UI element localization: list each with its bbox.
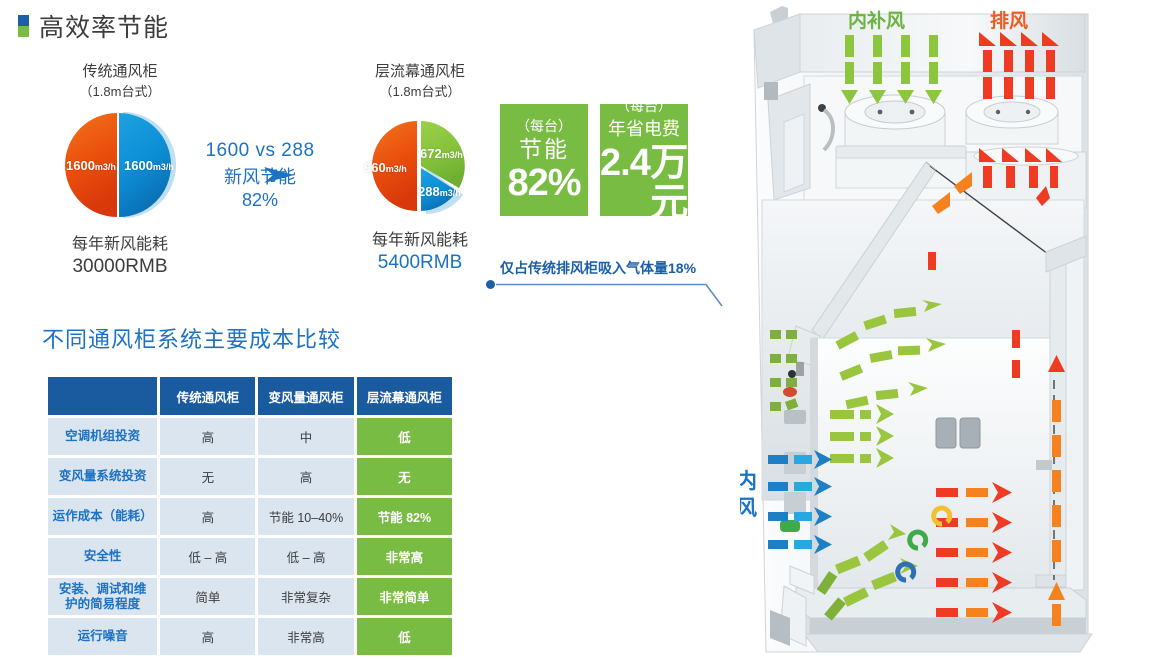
table-cell-highlight: 低: [357, 618, 452, 655]
pie-slice-label: 960m3/h: [364, 160, 407, 175]
pie-caption-traditional: 传统通风柜 （1.8m台式）: [30, 62, 210, 102]
supply-air-horizontal-rows: [830, 404, 894, 468]
badge-top-label: （每台）: [616, 97, 672, 115]
table-cell: 高: [160, 498, 255, 535]
table-row-label: 运作成本（能耗）: [48, 498, 157, 535]
pie-foot-laminar: 每年新风能耗 5400RMB: [330, 230, 510, 274]
pie-subtitle-traditional: （1.8m台式）: [30, 82, 210, 102]
cost-comparison-table: 传统通风柜 变风量通风柜 层流幕通风柜 空调机组投资 高 中 低 变风量系统投资…: [45, 374, 455, 658]
logo-square-top: [18, 15, 29, 26]
exhaust-riser-arrows: [1048, 355, 1065, 626]
table-row: 安装、调试和维护的简易程度 简单 非常复杂 非常简单: [48, 578, 452, 615]
label-exhaust-air: 排风: [990, 6, 1028, 33]
table-header-col-1: 传统通风柜: [160, 377, 255, 415]
pie-slice-label: 288m3/h: [418, 184, 461, 199]
table-cell-highlight: 非常高: [357, 538, 452, 575]
badge-mid-label: 节能: [519, 135, 569, 163]
table-cell: 高: [160, 418, 255, 455]
table-cell: 中: [258, 418, 353, 455]
badge-annual-savings: （每台） 年省电费 2.4 万元: [600, 104, 688, 216]
table-cell: 节能 10–40%: [258, 498, 353, 535]
table-title: 不同通风柜系统主要成本比较: [42, 322, 341, 354]
table-cell: 非常高: [258, 618, 353, 655]
page-title: 高效率节能: [39, 8, 169, 44]
supply-air-left-inlets: [770, 330, 798, 411]
badge-energy-saving: （每台） 节能 82 %: [500, 104, 588, 216]
pie-foot-value: 30000RMB: [30, 256, 210, 278]
pie-subtitle-laminar: （1.8m台式）: [330, 82, 510, 102]
table-row: 运行噪音 高 非常高 低: [48, 618, 452, 655]
table-body: 空调机组投资 高 中 低 变风量系统投资 无 高 无 运作成本（能耗） 高 节能…: [48, 418, 452, 655]
badge-mid-label: 年省电费: [608, 115, 680, 143]
badge-unit: 万元: [650, 143, 688, 223]
table-row-label: 变风量系统投资: [48, 458, 157, 495]
pie-foot-label: 每年新风能耗: [30, 234, 210, 256]
label-room-fresh-air-line1: 室内: [740, 468, 757, 495]
label-room-fresh-air-line2: 新风: [740, 495, 757, 522]
exhaust-dash-marks: [928, 252, 1020, 378]
label-room-fresh-air: 室内 新风: [740, 468, 757, 522]
table-row-label: 安装、调试和维护的简易程度: [48, 578, 157, 615]
table-row-label: 空调机组投资: [48, 418, 157, 455]
table-head: 传统通风柜 变风量通风柜 层流幕通风柜: [48, 377, 452, 415]
pie-caption-laminar: 层流幕通风柜 （1.8m台式）: [330, 62, 510, 102]
table-row-label: 运行噪音: [48, 618, 157, 655]
page-header: 高效率节能: [18, 8, 169, 44]
table-cell-highlight: 无: [357, 458, 452, 495]
table-cell: 无: [160, 458, 255, 495]
badge-big-value: 2.4: [600, 143, 650, 183]
pie-block-laminar: 层流幕通风柜 （1.8m台式）: [330, 62, 510, 274]
table-cell: 高: [258, 458, 353, 495]
table-row: 变风量系统投资 无 高 无: [48, 458, 452, 495]
pie-slice-label: 1600m3/h: [66, 158, 116, 173]
table-header-col-2: 变风量通风柜: [258, 377, 353, 415]
table-cell-highlight: 节能 82%: [357, 498, 452, 535]
fresh-air-arrows: [768, 450, 832, 554]
badge-unit: %: [548, 163, 581, 203]
table-row-label: 安全性: [48, 538, 157, 575]
table-cell: 非常复杂: [258, 578, 353, 615]
table-cell: 高: [160, 618, 255, 655]
pie-foot-value: 5400RMB: [330, 252, 510, 274]
table-cell: 简单: [160, 578, 255, 615]
table-cell-highlight: 非常简单: [357, 578, 452, 615]
table-row: 空调机组投资 高 中 低: [48, 418, 452, 455]
fume-hood-diagram: 内补风 排风 室内 新风: [740, 0, 1149, 660]
vs-text: 1600 vs 288: [196, 140, 324, 162]
table-cell: 低 – 高: [258, 538, 353, 575]
pie-slice-label: 1600m3/h: [124, 158, 174, 173]
exhaust-right-rows: [936, 482, 1012, 623]
pie-foot-label: 每年新风能耗: [330, 230, 510, 252]
badge-top-label: （每台）: [516, 117, 572, 135]
pie-block-traditional: 传统通风柜 （1.8m台式） 1600m3/h 1600m3/h: [30, 62, 210, 278]
table-header-corner: [48, 377, 157, 415]
pie-title-laminar: 层流幕通风柜: [330, 62, 510, 82]
benefit-value: 82%: [196, 189, 324, 211]
airflow-arrows: [740, 0, 1149, 660]
supply-air-swirl-lower: [817, 524, 918, 621]
supply-air-swirl-upper: [835, 300, 946, 409]
pie-chart-laminar: 960m3/h 672m3/h 288m3/h: [360, 118, 480, 216]
callout-leader-line: [494, 270, 734, 330]
benefit-label: 新风节能: [196, 165, 324, 189]
table-row: 安全性 低 – 高 低 – 高 非常高: [48, 538, 452, 575]
exhaust-air-arrows-plenum: [979, 148, 1062, 188]
supply-air-arrows-top: [841, 35, 942, 104]
logo-mark-icon: [18, 15, 29, 37]
comparison-summary: 1600 vs 288 新风节能 82%: [196, 140, 324, 211]
label-internal-supply-air: 内补风: [848, 6, 905, 33]
logo-square-bottom: [18, 26, 29, 37]
table-row: 运作成本（能耗） 高 节能 10–40% 节能 82%: [48, 498, 452, 535]
badge-value-row: 82 %: [507, 163, 580, 203]
badge-big-value: 82: [507, 163, 547, 203]
pie-foot-traditional: 每年新风能耗 30000RMB: [30, 234, 210, 278]
pie-chart-traditional: 1600m3/h 1600m3/h: [52, 110, 188, 220]
pie-title-traditional: 传统通风柜: [30, 62, 210, 82]
table-cell-highlight: 低: [357, 418, 452, 455]
table-cell: 低 – 高: [160, 538, 255, 575]
badge-value-row: 2.4 万元: [600, 143, 688, 223]
table-header-row: 传统通风柜 变风量通风柜 层流幕通风柜: [48, 377, 452, 415]
pie-slice-label: 672m3/h: [420, 146, 463, 161]
table-header-col-3: 层流幕通风柜: [357, 377, 452, 415]
exhaust-air-arrows-top: [979, 32, 1059, 99]
